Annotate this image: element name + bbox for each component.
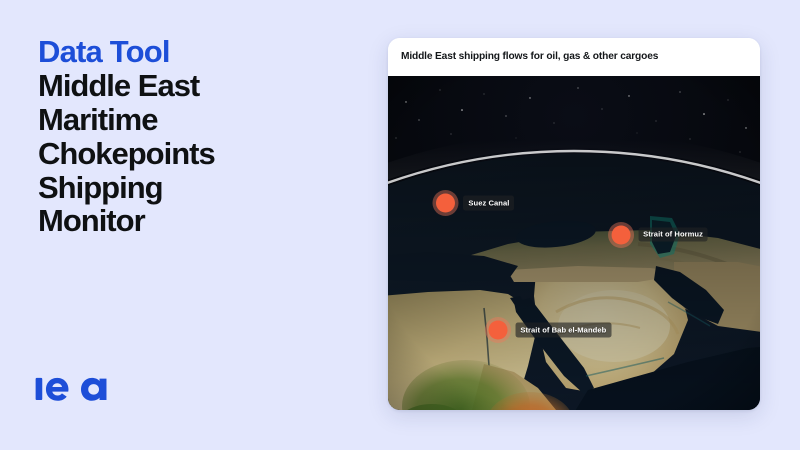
marker-strait-of-bab-el-mandeb[interactable]: Strait of Bab el-Mandeb	[488, 320, 611, 339]
map-card: Middle East shipping flows for oil, gas …	[388, 38, 760, 410]
marker-dot[interactable]	[488, 320, 507, 339]
slide-canvas: Data Tool Middle East Maritime Chokepoin…	[0, 0, 800, 450]
map-viewport[interactable]: Suez Canal Strait of Hormuz Strait of Ba…	[388, 76, 760, 410]
title-block: Data Tool Middle East Maritime Chokepoin…	[38, 36, 358, 238]
marker-label: Strait of Bab el-Mandeb	[515, 323, 611, 338]
iea-logo	[34, 372, 114, 406]
marker-dot[interactable]	[436, 193, 455, 212]
marker-label: Suez Canal	[463, 196, 514, 211]
marker-strait-of-hormuz[interactable]: Strait of Hormuz	[611, 225, 708, 244]
card-header: Middle East shipping flows for oil, gas …	[388, 38, 760, 76]
marker-dot[interactable]	[611, 225, 630, 244]
marker-suez-canal[interactable]: Suez Canal	[436, 193, 514, 212]
page-title: Middle East Maritime Chokepoints Shippin…	[38, 69, 358, 238]
marker-label: Strait of Hormuz	[638, 227, 708, 242]
card-title: Middle East shipping flows for oil, gas …	[401, 51, 658, 63]
eyebrow-label: Data Tool	[38, 36, 358, 68]
